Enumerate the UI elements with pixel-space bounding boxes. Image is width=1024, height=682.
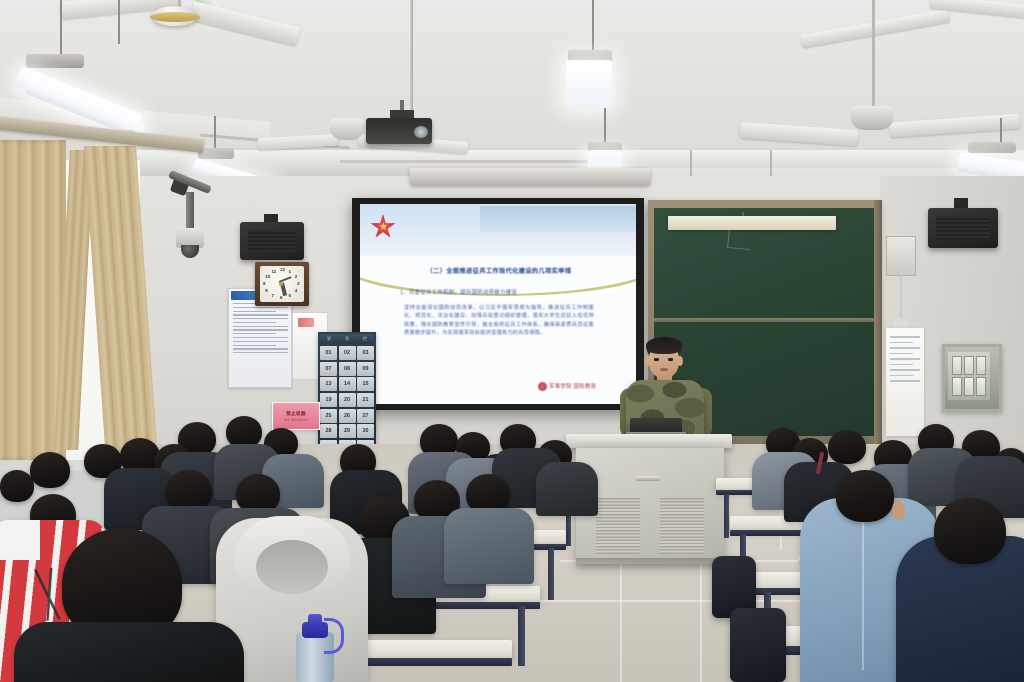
presenter-eye	[668, 358, 673, 361]
clock-center-pin	[279, 282, 283, 286]
clock-numeral: 12	[280, 267, 285, 272]
ceiling-fan-rod	[872, 0, 875, 110]
notice-text-line	[890, 375, 913, 377]
pocket-chart-number[interactable]: 03	[357, 346, 374, 360]
poster-text-line	[233, 352, 288, 353]
clock-numeral: 4	[295, 288, 298, 293]
hood-opening	[256, 540, 328, 594]
ceiling-conduit-pipe	[410, 0, 413, 120]
circuit-breaker[interactable]	[976, 356, 986, 375]
pocket-chart-header-cell: 号	[345, 336, 349, 342]
pocket-chart-number[interactable]: 09	[357, 362, 374, 376]
presenter-eye	[654, 358, 659, 361]
projection-screen: （二）全面推进征兵工作现代化建设的几项实举措 1、完善征兵工作机制，提升国防动员…	[360, 204, 636, 404]
poster-text-line	[233, 341, 288, 342]
pocket-chart-number[interactable]: 30	[357, 424, 374, 438]
poster-text-line	[233, 348, 288, 349]
pocket-chart-number[interactable]: 13	[320, 377, 337, 391]
desk-leg	[518, 606, 525, 666]
clock-numeral: 5	[289, 293, 292, 298]
ceiling-fan-ring	[150, 12, 200, 22]
clock-numeral: 3	[297, 281, 300, 286]
pocket-chart-number[interactable]: 14	[339, 377, 356, 391]
pocket-chart-grid: 0102030708091314151920212526272829303132…	[320, 346, 374, 454]
poster-text-line	[233, 333, 276, 334]
pocket-chart-number[interactable]: 07	[320, 362, 337, 376]
student-head	[30, 452, 70, 488]
logo-text: 军事学院 国防教育	[549, 382, 596, 390]
desk-leg	[724, 494, 729, 538]
student-ear	[892, 500, 905, 520]
circuit-breaker[interactable]	[952, 356, 962, 375]
pocket-chart-number[interactable]: 19	[320, 393, 337, 407]
student-head	[828, 430, 866, 464]
lamp-housing	[26, 54, 84, 68]
classroom-photo-scene: （二）全面推进征兵工作现代化建设的几项实举措 1、完善征兵工作机制，提升国防动员…	[0, 0, 1024, 682]
logo-mark-icon	[538, 382, 547, 391]
sign-line-1: 禁止吸烟	[286, 411, 306, 417]
notice-text-line	[890, 342, 913, 344]
presenter-ear	[645, 356, 651, 366]
bottle-spout	[308, 614, 322, 625]
pocket-chart-header-cell: 栏	[363, 336, 367, 342]
notice-text-line	[890, 353, 913, 355]
chalkboard-banner	[668, 216, 836, 230]
slide-body-text: 坚持全面深化国防动员改革，以习近平强军思想为指导，推进征兵工作制度化、规范化、法…	[404, 304, 594, 338]
projection-screen-case	[410, 168, 650, 185]
presenter-hair-top	[646, 337, 682, 354]
notice-text-line	[890, 336, 920, 338]
pocket-chart-header-cell: 学	[327, 336, 331, 342]
podium-top	[566, 434, 732, 448]
notice-text-line	[890, 380, 920, 382]
student-head	[0, 470, 34, 502]
poster-text-line	[233, 307, 288, 308]
clock-numeral: 8	[265, 288, 268, 293]
pocket-chart-number[interactable]: 15	[357, 377, 374, 391]
projector-lens-icon	[414, 126, 428, 138]
lamp-housing	[198, 148, 234, 159]
clock-numeral: 7	[272, 293, 275, 298]
lamp-housing	[968, 142, 1016, 153]
poster-text-line	[233, 318, 288, 319]
breaker-grid	[948, 352, 990, 400]
pocket-chart-number[interactable]: 25	[320, 409, 337, 423]
pocket-chart-number[interactable]: 20	[339, 393, 356, 407]
notice-text-line	[890, 364, 913, 366]
pocket-chart-number[interactable]: 01	[320, 346, 337, 360]
pocket-chart-number[interactable]: 21	[357, 393, 374, 407]
no-smoking-sign: 禁止吸烟 NO SMOKING	[272, 402, 320, 430]
podium-handle[interactable]	[636, 476, 660, 481]
lamp-suspension-wire	[60, 0, 62, 56]
podium-vent	[596, 498, 640, 554]
speaker-grille-icon	[936, 216, 990, 240]
backpack	[730, 608, 786, 682]
wall-switch-box[interactable]	[894, 318, 908, 328]
speaker-grille-icon	[248, 230, 296, 252]
jacket-seam	[862, 520, 864, 670]
clock-numeral: 10	[265, 274, 270, 279]
podium-vent	[660, 498, 704, 554]
ceiling-fan-motor	[850, 106, 894, 130]
slide-subtitle: 1、完善征兵工作机制，提升国防动员能力建设	[400, 288, 600, 296]
lamp-suspension-wire	[118, 0, 120, 44]
circuit-breaker[interactable]	[976, 377, 986, 396]
presenter-ear	[677, 356, 683, 366]
wall-conduit	[900, 274, 902, 320]
pocket-chart-number[interactable]: 28	[320, 424, 337, 438]
notice-text-line	[890, 347, 920, 349]
desk-edge	[352, 658, 512, 666]
student-torso-foreground	[14, 622, 244, 682]
clock-numeral: 9	[263, 281, 266, 286]
student-head	[934, 498, 1006, 564]
wall-notice-paper	[886, 328, 924, 436]
podium-shadow	[576, 558, 728, 570]
chalkboard-divider	[654, 318, 874, 322]
wall-junction-plate	[886, 236, 916, 276]
pocket-chart-number[interactable]: 26	[339, 409, 356, 423]
clock-numeral: 11	[272, 269, 277, 274]
clock-numeral: 1	[289, 269, 292, 274]
poster-text-line	[233, 314, 288, 315]
pocket-chart-number[interactable]: 29	[339, 424, 356, 438]
lamp-suspension-wire	[592, 0, 594, 52]
poster-text-line	[233, 322, 276, 323]
poster-text-line	[233, 337, 288, 338]
slide-footer-logo: 军事学院 国防教育	[538, 380, 628, 392]
presenter-mouth	[660, 368, 668, 371]
hanging-string	[727, 229, 752, 250]
circuit-breaker[interactable]	[952, 377, 962, 396]
student-head	[836, 470, 894, 522]
desk-leg	[548, 548, 554, 600]
notice-text-line	[890, 369, 920, 371]
fluorescent-tube	[566, 60, 612, 108]
pocket-chart-number[interactable]: 08	[339, 362, 356, 376]
pocket-chart-number[interactable]: 27	[357, 409, 374, 423]
circuit-breaker[interactable]	[964, 356, 974, 375]
floor-tile-line	[620, 564, 622, 682]
circuit-breaker[interactable]	[964, 377, 974, 396]
pocket-chart-header: 学号栏	[320, 334, 374, 344]
poster-text-line	[233, 329, 288, 330]
floor-tile-line	[530, 600, 830, 602]
pocket-chart-number[interactable]: 02	[339, 346, 356, 360]
clock-numeral: 2	[295, 274, 298, 279]
notice-text-line	[890, 358, 920, 360]
slide-title: （二）全面推进征兵工作现代化建设的几项实举措	[388, 266, 610, 275]
poster-text-line	[233, 326, 288, 327]
desk	[352, 640, 512, 660]
ceiling-conduit	[340, 160, 600, 163]
floor-tile-line	[700, 564, 702, 682]
lamp-suspension-wire	[604, 108, 606, 144]
card-stamp	[298, 318, 314, 327]
poster-text-line	[233, 311, 276, 312]
student-torso	[444, 508, 534, 584]
chalkboard-edge	[874, 200, 882, 444]
ceiling-fan-motor	[330, 118, 364, 140]
lamp-suspension-wire	[214, 116, 216, 152]
jacket-white-panel	[0, 520, 40, 560]
poster-text-line	[233, 345, 276, 346]
student-torso	[536, 462, 598, 516]
sign-line-2: NO SMOKING	[284, 418, 308, 422]
camera-arm	[186, 192, 194, 232]
